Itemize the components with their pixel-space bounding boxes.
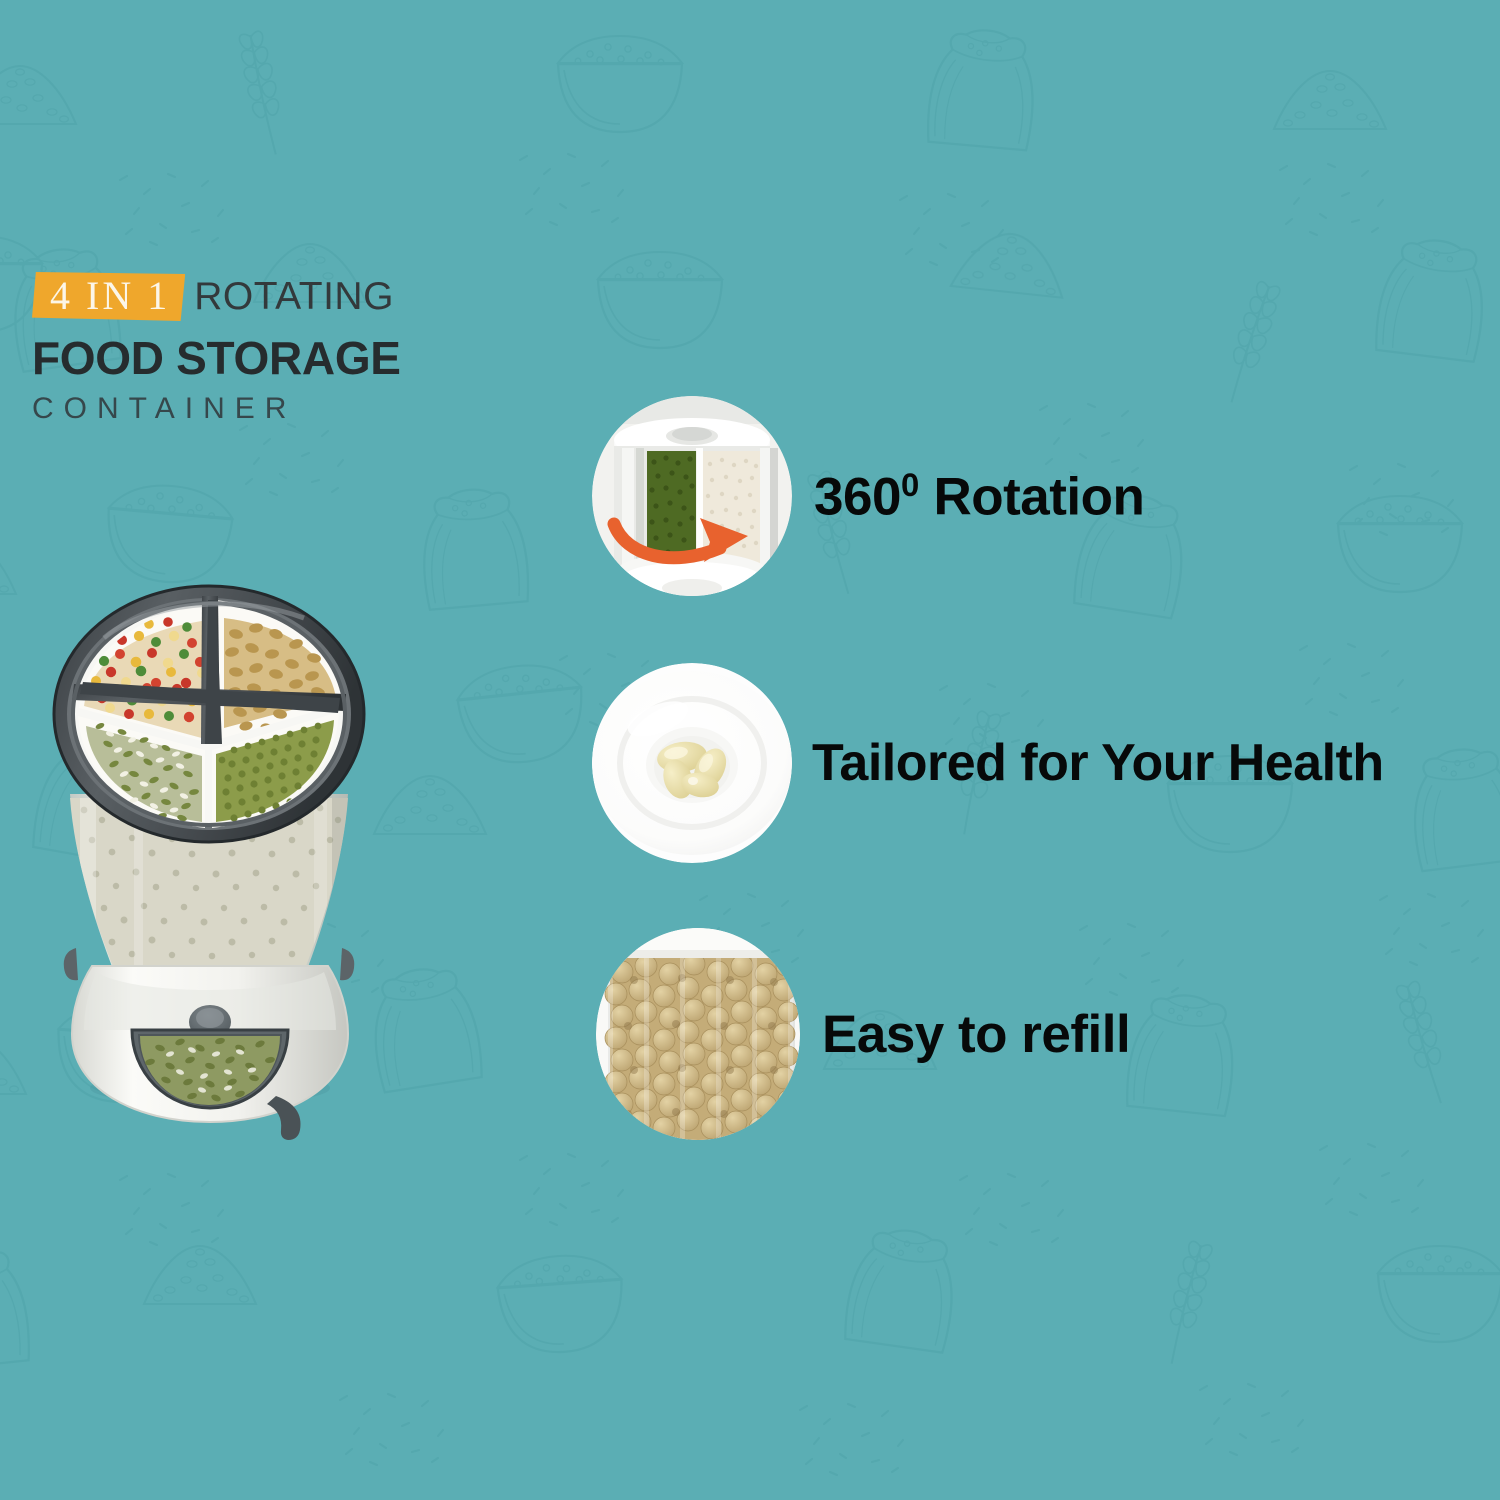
feature-label-rotation: 3600 Rotation (814, 469, 1144, 524)
hero-product-image (0, 548, 434, 1118)
garlic-dish-photo (592, 663, 792, 863)
title-block: 4 IN 1 ROTATING FOOD STORAGE CONTAINER (32, 272, 552, 424)
feature-row-health: Tailored for Your Health (592, 663, 1384, 863)
four-in-one-badge: 4 IN 1 (32, 272, 185, 321)
chickpeas-fill-photo (596, 928, 800, 1140)
badge-label: 4 IN 1 (50, 276, 170, 316)
feature-row-refill: Easy to refill (596, 928, 1130, 1140)
page-subtitle: CONTAINER (32, 394, 552, 424)
feature-label-health: Tailored for Your Health (812, 737, 1384, 789)
degree-superscript: 0 (901, 466, 919, 503)
feature-label-refill: Easy to refill (822, 1008, 1130, 1061)
page-title: FOOD STORAGE (32, 335, 552, 381)
rotating-container-photo (592, 396, 792, 596)
feature-label-rotation-main: 360 (814, 467, 901, 526)
headline-top-line: 4 IN 1 ROTATING (32, 272, 552, 324)
feature-row-rotation: 3600 Rotation (592, 396, 1144, 596)
rotating-word: ROTATING (194, 277, 394, 316)
feature-label-rotation-rest: Rotation (919, 467, 1144, 526)
